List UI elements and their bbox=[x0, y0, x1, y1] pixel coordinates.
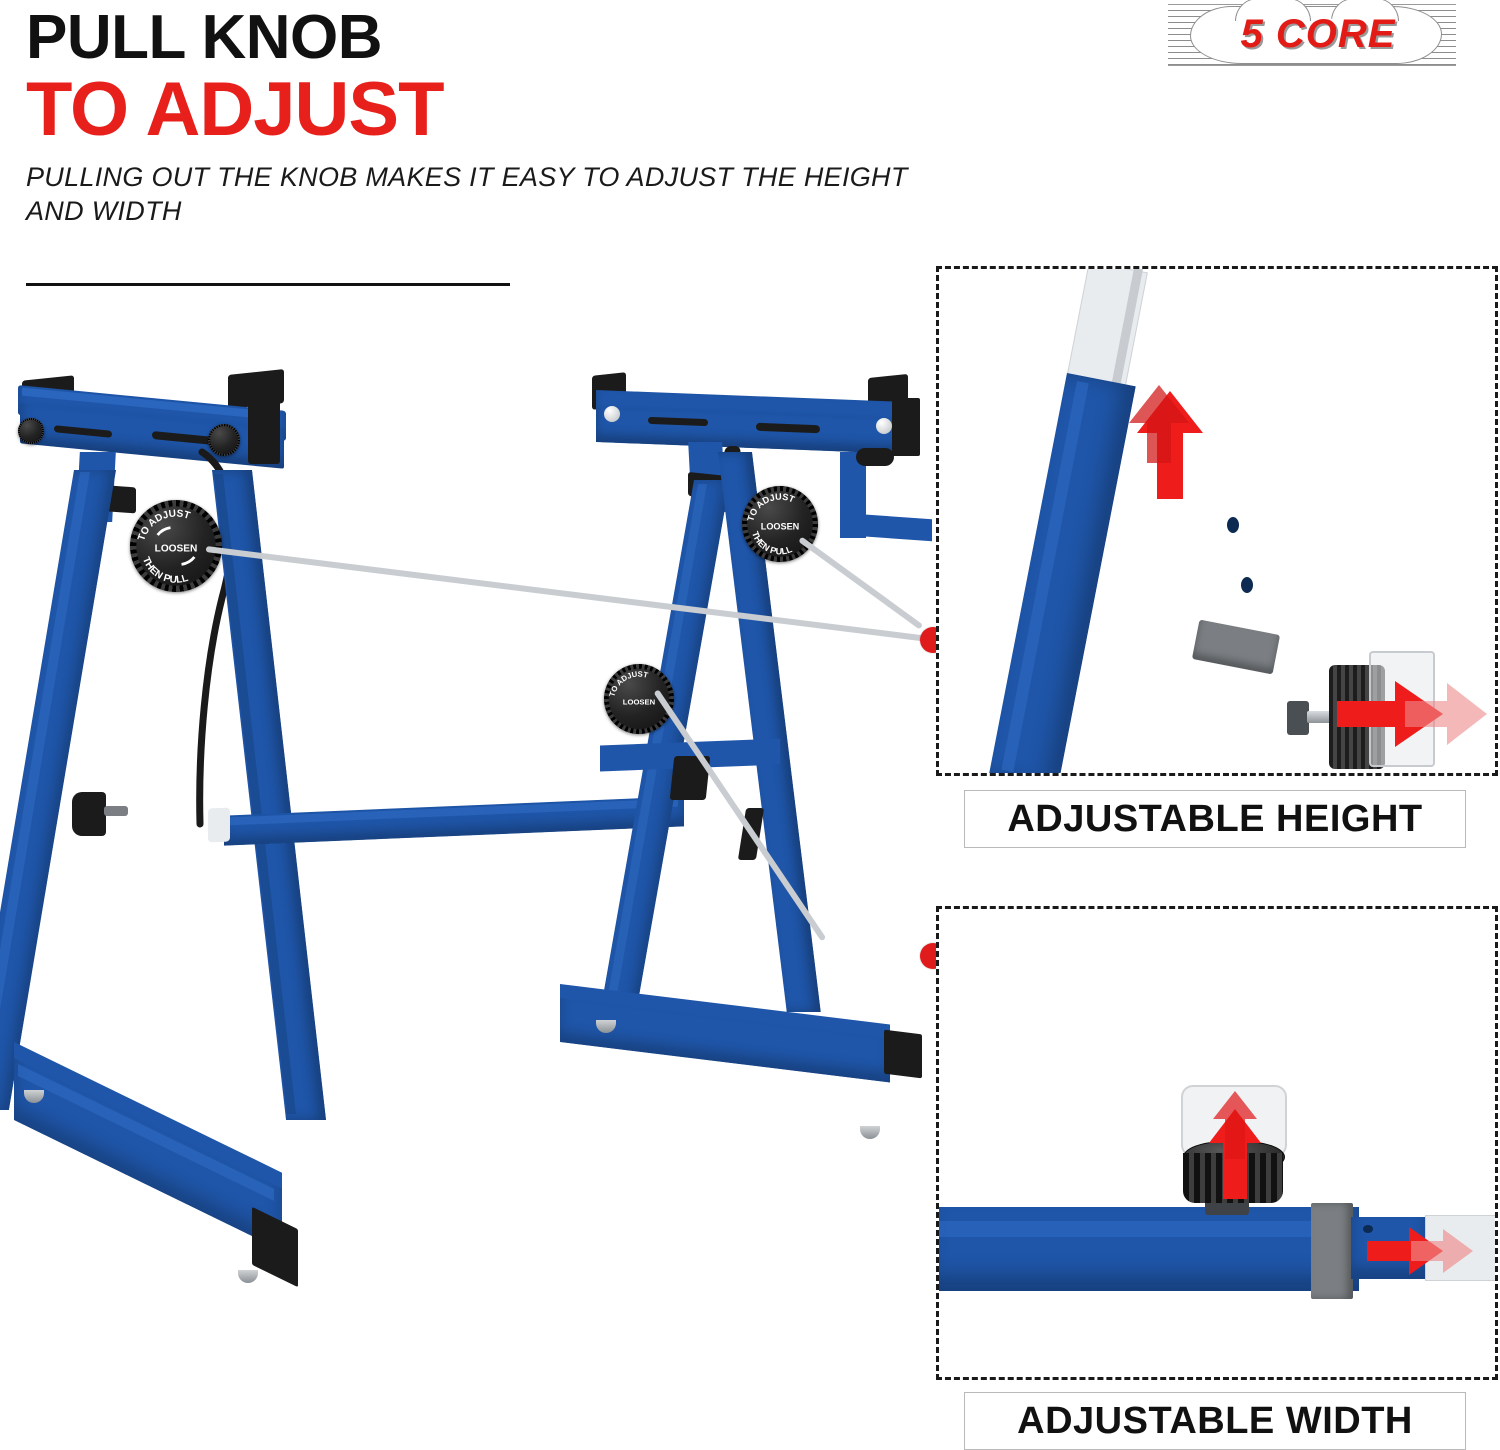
headline-subtitle: PULLING OUT THE KNOB MAKES IT EASY TO AD… bbox=[26, 160, 946, 228]
logo-text: 5 CORE bbox=[1198, 4, 1438, 64]
right-crossbar-pin-far bbox=[604, 406, 620, 422]
height-arrow-up-ghost bbox=[1127, 385, 1191, 465]
width-main-tube bbox=[936, 1207, 1359, 1291]
left-crossbar-knob-far[interactable] bbox=[18, 418, 44, 444]
headline-line-1: PULL KNOB bbox=[26, 6, 946, 70]
callout-panel-height bbox=[936, 266, 1498, 776]
right-adjust-knob-height-label: TO ADJUST THEN PULL LOOSEN bbox=[742, 486, 818, 562]
svg-text:TO ADJUST: TO ADJUST bbox=[136, 508, 192, 542]
svg-text:LOOSEN: LOOSEN bbox=[623, 698, 656, 707]
left-base-end-cap bbox=[252, 1207, 298, 1287]
right-crossbar-end-cap bbox=[892, 398, 920, 456]
height-adjust-hole-1 bbox=[1227, 517, 1239, 533]
header-divider-rule bbox=[26, 283, 510, 286]
headline-block: PULL KNOB TO ADJUST PULLING OUT THE KNOB… bbox=[26, 6, 946, 228]
height-pin-bracket bbox=[1287, 701, 1309, 735]
right-adjust-knob-height[interactable]: TO ADJUST THEN PULL LOOSEN bbox=[742, 486, 818, 562]
right-crossbar-pin-near bbox=[876, 418, 892, 434]
width-arrow-right-ghost bbox=[1411, 1227, 1475, 1275]
svg-text:LOOSEN: LOOSEN bbox=[155, 544, 198, 555]
left-leg-front bbox=[0, 470, 116, 1110]
left-crossbeam-end-cap bbox=[208, 808, 230, 843]
left-base-foot-near bbox=[238, 1270, 258, 1283]
headline-line-2: TO ADJUST bbox=[26, 72, 946, 148]
callout-panel-width bbox=[936, 906, 1498, 1380]
height-collar bbox=[1192, 620, 1280, 675]
height-arrow-right-ghost bbox=[1405, 681, 1489, 747]
width-tube-highlight bbox=[936, 1221, 1349, 1237]
leader-line-right-knob-to-height bbox=[798, 537, 923, 630]
left-leg-knob-shaft bbox=[104, 806, 128, 816]
svg-text:TO ADJUST: TO ADJUST bbox=[607, 670, 649, 698]
callout-label-height: ADJUSTABLE HEIGHT bbox=[964, 790, 1466, 848]
height-adjust-hole-2 bbox=[1241, 577, 1253, 593]
right-base-foot-near bbox=[860, 1126, 880, 1139]
svg-text:LOOSEN: LOOSEN bbox=[761, 521, 799, 531]
product-infographic: PULL KNOB TO ADJUST PULLING OUT THE KNOB… bbox=[0, 0, 1500, 1450]
left-leg-wing-knob[interactable] bbox=[72, 792, 106, 836]
svg-text:THEN PULL: THEN PULL bbox=[140, 556, 190, 586]
svg-text:TO ADJUST: TO ADJUST bbox=[745, 492, 796, 523]
width-arrow-up-ghost bbox=[1211, 1091, 1259, 1161]
right-hook-pad bbox=[856, 448, 894, 466]
callout-label-width: ADJUSTABLE WIDTH bbox=[964, 1392, 1466, 1450]
width-collar bbox=[1311, 1203, 1353, 1299]
svg-text:THEN PULL: THEN PULL bbox=[750, 530, 794, 557]
right-base-end-cap bbox=[884, 1030, 922, 1079]
brand-logo: 5 CORE bbox=[1168, 4, 1456, 66]
